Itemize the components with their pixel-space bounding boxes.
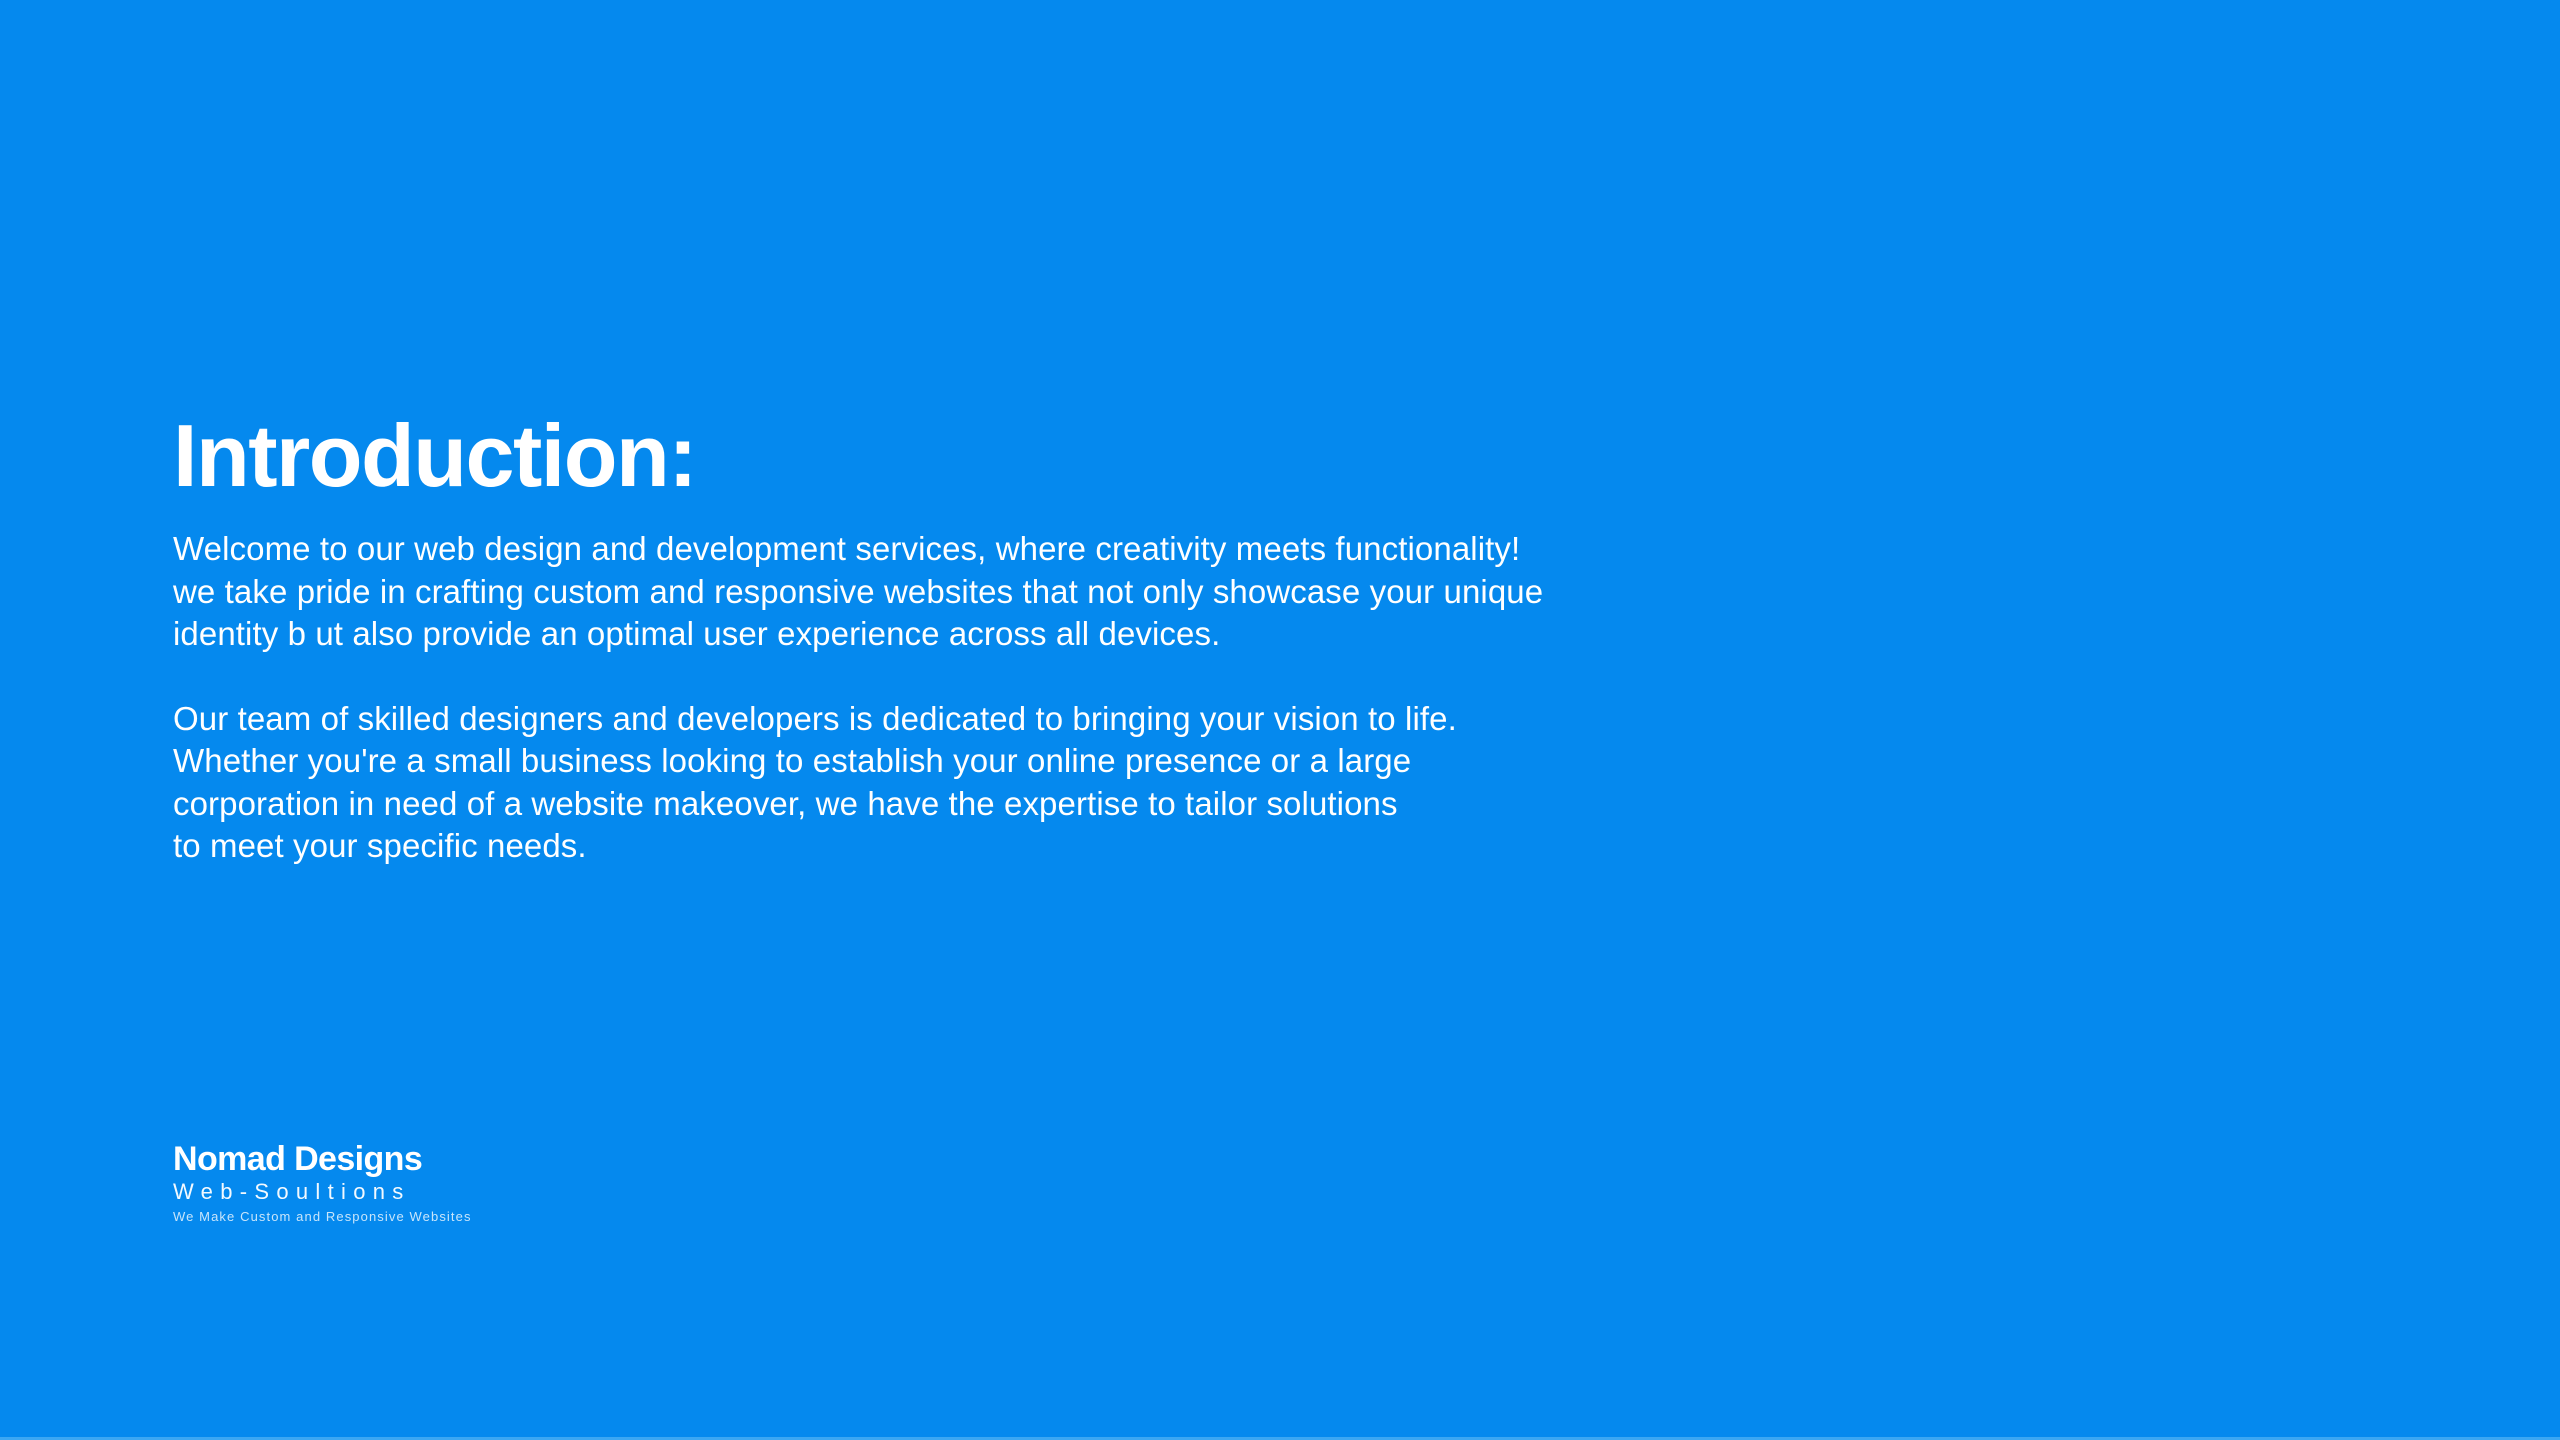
paragraph-2: Our team of skilled designers and develo… bbox=[173, 698, 1973, 868]
paragraph-1: Welcome to our web design and developmen… bbox=[173, 528, 1973, 656]
brand-logo: Nomad Designs Web-Soultions We Make Cust… bbox=[173, 1140, 472, 1225]
body-copy: Welcome to our web design and developmen… bbox=[173, 528, 1973, 868]
slide-content: Introduction: Welcome to our web design … bbox=[173, 408, 1973, 868]
logo-company-name: Nomad Designs bbox=[173, 1140, 472, 1178]
logo-tagline: We Make Custom and Responsive Websites bbox=[173, 1208, 472, 1225]
page-title: Introduction: bbox=[173, 408, 1973, 504]
logo-subtitle: Web-Soultions bbox=[173, 1178, 472, 1206]
slide-canvas: Introduction: Welcome to our web design … bbox=[0, 0, 2560, 1440]
